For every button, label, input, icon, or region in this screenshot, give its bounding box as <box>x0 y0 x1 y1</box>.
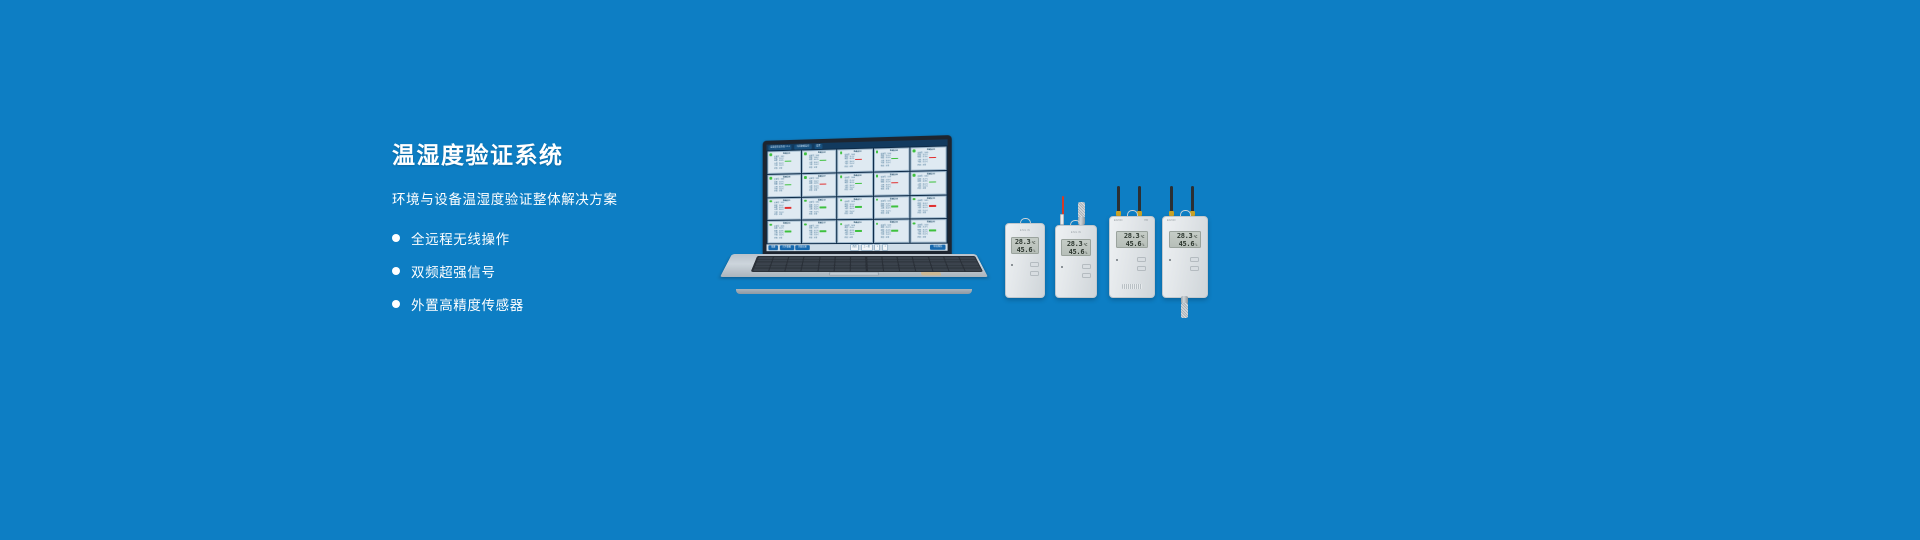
card-alarm-pill <box>820 207 827 209</box>
keyboard-key[interactable] <box>961 260 977 262</box>
card-state: 状态：正常 <box>774 190 799 193</box>
keyboard-key[interactable] <box>960 257 975 259</box>
port-label-left: EN/ON <box>1167 219 1176 222</box>
card-state: 状态：正常 <box>881 213 908 216</box>
humidity-probe-mesh <box>1181 303 1188 318</box>
sensor-antenna-probe: EN/ON 28.3 ℃ 45.6 % <box>1160 186 1210 318</box>
export-report-button[interactable]: 导出报告 <box>930 245 945 250</box>
status-led-icon <box>1061 266 1063 268</box>
keyboard-key[interactable] <box>772 260 787 262</box>
pager-page-1[interactable]: 1 <box>874 244 880 251</box>
antenna-right-icon <box>1191 186 1194 214</box>
card-alarm-pill <box>929 205 936 207</box>
card-status-led-icon <box>912 174 915 177</box>
keyboard-key[interactable] <box>867 266 882 268</box>
temperature-unit: ℃ <box>1083 243 1087 247</box>
card-status-led-icon <box>876 199 879 202</box>
keyboard-key[interactable] <box>819 266 834 268</box>
monitor-card[interactable]: 监测点09设备号：1009温度：24.6℃湿度：45.2%上限：30.0℃下限：… <box>874 172 910 196</box>
button-up[interactable] <box>1190 257 1199 262</box>
card-status-led-icon <box>840 223 843 226</box>
humidity-reading: 45.6 % <box>1173 240 1197 248</box>
card-alarm-pill <box>820 230 827 232</box>
pager-first[interactable]: 首页 <box>850 244 860 251</box>
keyboard-key[interactable] <box>851 260 866 262</box>
monitor-card[interactable]: 监测点11设备号：1011温度：26.0℃湿度：45.4%上限：30.0℃下限：… <box>767 197 801 220</box>
sensor-cable <box>1062 196 1064 216</box>
card-state: 状态：正常 <box>844 213 870 216</box>
temperature-reading: 28.3 ℃ <box>1120 232 1144 240</box>
card-state: 状态：正常 <box>917 236 944 239</box>
card-status-led-icon <box>912 222 915 225</box>
card-status-led-icon <box>770 154 772 157</box>
monitor-card[interactable]: 监测点03设备号：1003温度：26.1℃湿度：44.2%上限：30.0℃下限：… <box>838 149 873 173</box>
lcd-display: 28.3 ℃ 45.6 % <box>1169 231 1201 248</box>
keyboard-key[interactable] <box>883 266 898 268</box>
card-alarm-pill <box>855 230 862 232</box>
humidity-reading: 45.6 % <box>1015 246 1035 254</box>
card-state: 状态：正常 <box>917 212 944 215</box>
bullet-dot-icon <box>392 234 400 242</box>
keyboard-key[interactable] <box>835 260 850 262</box>
keyboard-key[interactable] <box>930 260 945 262</box>
monitor-card[interactable]: 监测点04设备号：1004温度：25.5℃湿度：45.0%上限：30.0℃下限：… <box>874 147 910 171</box>
keyboard-key[interactable] <box>820 257 835 259</box>
card-state: 状态：正常 <box>844 189 870 192</box>
sensor-compact: ENGIN 28.3 ℃ 45.6 % <box>1005 218 1045 298</box>
keyboard[interactable] <box>751 256 983 272</box>
card-state: 状态：正常 <box>774 167 799 170</box>
button-down[interactable] <box>1082 273 1091 278</box>
button-up[interactable] <box>1082 264 1091 269</box>
laptop-screen: 温湿度验证系统 V2.0 当前数据监控 设置 监测点01设备号：1001温度：2… <box>767 139 948 251</box>
button-down[interactable] <box>1137 266 1146 271</box>
card-status-led-icon <box>912 198 915 201</box>
feature-list: 全远程无线操作 双频超强信号 外置高精度传感器 <box>392 228 722 314</box>
monitor-card[interactable]: 监测点08设备号：1008温度：25.1℃湿度：46.5%上限：30.0℃下限：… <box>838 172 873 195</box>
keyboard-key[interactable] <box>851 263 866 265</box>
keyboard-key[interactable] <box>756 260 771 262</box>
keyboard-key[interactable] <box>818 269 833 271</box>
card-state: 状态：正常 <box>881 237 908 240</box>
keyboard-key[interactable] <box>867 257 882 259</box>
keyboard-key[interactable] <box>884 269 899 271</box>
humidity-unit: % <box>1142 243 1144 247</box>
keyboard-key[interactable] <box>867 260 882 262</box>
keyboard-key[interactable] <box>883 260 898 262</box>
temperature-reading: 28.3 ℃ <box>1015 238 1035 246</box>
monitor-card[interactable]: 监测点16设备号：1016温度：25.0℃湿度：46.8%上限：30.0℃下限：… <box>767 221 801 244</box>
device-body: ENGIN 28.3 ℃ 45.6 % <box>1005 223 1045 298</box>
status-led-icon <box>1169 259 1171 261</box>
card-status-led-icon <box>876 222 879 225</box>
temperature-reading: 28.3 ℃ <box>1065 240 1087 248</box>
keyboard-key[interactable] <box>944 257 959 259</box>
keyboard-key[interactable] <box>771 263 786 265</box>
humidity-unit: % <box>1085 251 1087 255</box>
keyboard-key[interactable] <box>867 269 882 271</box>
temperature-unit: ℃ <box>1193 235 1197 239</box>
card-status-led-icon <box>770 200 772 203</box>
card-alarm-pill <box>785 207 792 209</box>
page-title: 温湿度验证系统 <box>392 142 722 170</box>
monitor-card[interactable]: 监测点20设备号：1020温度：25.4℃湿度：46.2%上限：30.0℃下限：… <box>910 219 946 242</box>
keyboard-key[interactable] <box>851 269 866 271</box>
humidity-reading: 45.6 % <box>1065 248 1087 256</box>
sensor-dual-antenna: EN/ON HB 28.3 ℃ 45.6 % <box>1107 186 1157 298</box>
cable-connector <box>1060 214 1064 225</box>
card-alarm-pill <box>892 206 899 208</box>
monitor-card[interactable]: 监测点02设备号：1002温度：24.8℃湿度：46.1%上限：30.0℃下限：… <box>802 150 836 173</box>
laptop-illustration: 温湿度验证系统 V2.0 当前数据监控 设置 监测点01设备号：1001温度：2… <box>720 138 988 300</box>
keyboard-key[interactable] <box>898 257 913 259</box>
keyboard-key[interactable] <box>770 266 786 268</box>
card-status-led-icon <box>804 176 807 179</box>
device-brand: ENGIN <box>1056 231 1096 234</box>
monitor-card[interactable]: 监测点07设备号：1007温度：26.4℃湿度：43.9%上限：30.0℃下限：… <box>802 173 836 196</box>
keyboard-key[interactable] <box>773 257 788 259</box>
card-state: 状态：正常 <box>917 188 944 191</box>
new-button[interactable]: 新建 <box>768 245 778 250</box>
card-status-led-icon <box>804 223 807 226</box>
feature-label: 双频超强信号 <box>411 261 496 281</box>
card-alarm-pill <box>855 206 862 208</box>
status-led-icon <box>1116 259 1118 261</box>
card-alarm-pill <box>785 230 792 232</box>
keyboard-key[interactable] <box>758 257 773 259</box>
keyboard-key[interactable] <box>867 263 882 265</box>
monitor-card[interactable]: 监测点13设备号：1013温度：24.9℃湿度：45.9%上限：30.0℃下限：… <box>838 196 873 219</box>
temperature-reading: 28.3 ℃ <box>1173 232 1197 240</box>
keyboard-key[interactable] <box>755 263 770 265</box>
monitor-card[interactable]: 监测点18设备号：1018温度：25.8℃湿度：44.9%上限：30.0℃下限：… <box>838 220 873 243</box>
antenna-left-icon <box>1170 186 1173 214</box>
keyboard-key[interactable] <box>769 269 785 271</box>
keyboard-key[interactable] <box>788 260 803 262</box>
keyboard-row <box>756 260 976 262</box>
app-toolbar: 新建 打开数据 开始记录 首页 上一页 1 2 导出报告 <box>767 244 948 252</box>
keyboard-key[interactable] <box>914 260 929 262</box>
hero-subtitle: 环境与设备温湿度验证整体解决方案 <box>392 188 722 208</box>
card-state: 状态：正常 <box>881 188 908 191</box>
product-banner: 温湿度验证系统 环境与设备温湿度验证整体解决方案 全远程无线操作 双频超强信号 … <box>0 0 1920 540</box>
keyboard-key[interactable] <box>949 269 965 271</box>
monitor-card-grid: 监测点01设备号：1001温度：25.3℃湿度：45.6%上限：30.0℃下限：… <box>767 145 948 244</box>
keyboard-key[interactable] <box>753 269 769 271</box>
lcd-display: 28.3 ℃ 45.6 % <box>1011 237 1039 254</box>
humidity-reading: 45.6 % <box>1120 240 1144 248</box>
monitor-card[interactable]: 监测点12设备号：1012温度：25.2℃湿度：46.0%上限：30.0℃下限：… <box>802 197 836 220</box>
keyboard-key[interactable] <box>946 263 962 265</box>
keyboard-key[interactable] <box>754 266 770 268</box>
card-status-led-icon <box>912 150 915 153</box>
lcd-display: 28.3 ℃ 45.6 % <box>1061 239 1091 256</box>
laptop-base <box>720 254 988 300</box>
keyboard-key[interactable] <box>803 263 818 265</box>
laptop-deck <box>720 254 988 277</box>
bullet-dot-icon <box>392 267 400 275</box>
button-up[interactable] <box>1030 262 1039 267</box>
speaker-grille <box>1122 284 1142 289</box>
humidity-probe-mesh <box>1078 202 1085 218</box>
keyboard-key[interactable] <box>802 269 817 271</box>
temperature-value: 28.3 <box>1124 232 1140 240</box>
card-state: 状态：正常 <box>774 214 799 217</box>
card-state: 状态：正常 <box>774 237 799 240</box>
keyboard-key[interactable] <box>899 263 914 265</box>
keyboard-key[interactable] <box>899 266 914 268</box>
pager-page-2[interactable]: 2 <box>882 244 888 251</box>
monitor-card[interactable]: 监测点17设备号：1017温度：24.4℃湿度：45.1%上限：30.0℃下限：… <box>802 220 836 243</box>
monitor-card[interactable]: 监测点10设备号：1010温度：25.7℃湿度：44.8%上限：30.0℃下限：… <box>910 171 946 195</box>
keyboard-key[interactable] <box>835 266 850 268</box>
device-brand: ENGIN <box>1006 229 1044 232</box>
keyboard-key[interactable] <box>789 257 804 259</box>
temperature-unit: ℃ <box>1031 241 1035 245</box>
port-label-right: HB <box>1144 219 1148 222</box>
tab-settings[interactable]: 设置 <box>814 143 822 148</box>
status-led-icon <box>1011 264 1013 266</box>
keyboard-key[interactable] <box>931 266 947 268</box>
keyboard-key[interactable] <box>962 263 978 265</box>
keyboard-key[interactable] <box>945 260 960 262</box>
card-status-led-icon <box>770 177 772 180</box>
temperature-value: 28.3 <box>1015 238 1031 246</box>
card-alarm-pill <box>929 229 936 231</box>
button-down[interactable] <box>1030 271 1039 276</box>
keyboard-key[interactable] <box>883 263 898 265</box>
monitor-card[interactable]: 监测点14设备号：1014温度：25.6℃湿度：44.5%上限：30.0℃下限：… <box>874 196 910 219</box>
device-body: EN/ON 28.3 ℃ 45.6 % <box>1162 216 1208 298</box>
sensor-probe-cable: ENGIN 28.3 ℃ 45.6 % <box>1053 196 1097 298</box>
keyboard-key[interactable] <box>804 257 819 259</box>
keyboard-key[interactable] <box>900 269 916 271</box>
keyboard-key[interactable] <box>916 269 932 271</box>
feature-label: 全远程无线操作 <box>411 228 510 248</box>
temperature-value: 28.3 <box>1177 232 1193 240</box>
list-item: 双频超强信号 <box>392 261 722 281</box>
keyboard-key[interactable] <box>851 266 866 268</box>
monitor-card[interactable]: 监测点01设备号：1001温度：25.3℃湿度：45.6%上限：30.0℃下限：… <box>767 150 801 173</box>
card-status-led-icon <box>840 152 843 155</box>
lcd-display: 28.3 ℃ 45.6 % <box>1116 231 1148 248</box>
card-status-led-icon <box>876 175 879 178</box>
bullet-dot-icon <box>392 300 400 308</box>
card-state: 状态：正常 <box>809 213 835 216</box>
keyboard-key[interactable] <box>819 263 834 265</box>
keyboard-key[interactable] <box>786 269 802 271</box>
keyboard-key[interactable] <box>965 269 981 271</box>
laptop-lid: 温湿度验证系统 V2.0 当前数据监控 设置 监测点01设备号：1001温度：2… <box>763 135 952 260</box>
card-status-led-icon <box>840 199 843 202</box>
hero-copy: 温湿度验证系统 环境与设备温湿度验证整体解决方案 全远程无线操作 双频超强信号 … <box>392 142 722 327</box>
monitor-card[interactable]: 监测点19设备号：1019温度：26.2℃湿度：45.3%上限：30.0℃下限：… <box>874 220 910 243</box>
keyboard-key[interactable] <box>930 263 945 265</box>
list-item: 外置高精度传感器 <box>392 294 722 314</box>
keyboard-key[interactable] <box>836 257 850 259</box>
keyboard-key[interactable] <box>786 266 801 268</box>
list-item: 全远程无线操作 <box>392 228 722 248</box>
device-body: ENGIN 28.3 ℃ 45.6 % <box>1055 225 1097 298</box>
keyboard-key[interactable] <box>932 269 948 271</box>
humidity-unit: % <box>1195 243 1197 247</box>
humidity-value: 45.6 <box>1017 246 1033 254</box>
keyboard-key[interactable] <box>804 260 819 262</box>
card-state: 状态：正常 <box>844 165 870 168</box>
antenna-left-icon <box>1117 186 1120 214</box>
card-state: 状态：正常 <box>844 237 870 240</box>
keyboard-key[interactable] <box>915 266 930 268</box>
card-state: 状态：正常 <box>881 164 908 167</box>
card-status-led-icon <box>770 223 772 226</box>
keyboard-key[interactable] <box>882 257 897 259</box>
keyboard-key[interactable] <box>898 260 913 262</box>
keyboard-row <box>753 269 981 271</box>
feature-label: 外置高精度传感器 <box>411 294 524 314</box>
card-state: 状态：正常 <box>917 164 944 167</box>
humidity-value: 45.6 <box>1069 248 1085 256</box>
keyboard-key[interactable] <box>929 257 944 259</box>
card-state: 状态：正常 <box>809 237 835 240</box>
antenna-right-icon <box>1138 186 1141 214</box>
humidity-value: 45.6 <box>1179 240 1195 248</box>
monitor-card[interactable]: 监测点15设备号：1015温度：26.3℃湿度：43.7%上限：30.0℃下限：… <box>910 195 946 219</box>
keyboard-key[interactable] <box>803 266 818 268</box>
button-down[interactable] <box>1190 266 1199 271</box>
card-state: 状态：正常 <box>809 190 835 193</box>
monitor-card[interactable]: 监测点06设备号：1006温度：25.9℃湿度：45.8%上限：30.0℃下限：… <box>767 174 801 197</box>
monitor-card[interactable]: 监测点05设备号：1005温度：24.2℃湿度：47.3%上限：30.0℃下限：… <box>910 146 946 170</box>
pager-prev[interactable]: 上一页 <box>861 244 873 251</box>
start-record-button[interactable]: 开始记录 <box>795 245 809 250</box>
keyboard-key[interactable] <box>835 269 850 271</box>
keyboard-key[interactable] <box>947 266 963 268</box>
card-status-led-icon <box>840 175 843 178</box>
port-label-left: EN/ON <box>1114 219 1123 222</box>
keyboard-key[interactable] <box>851 257 865 259</box>
card-status-led-icon <box>876 151 879 154</box>
laptop-base-front <box>736 289 972 294</box>
keyboard-key[interactable] <box>913 257 928 259</box>
keyboard-row <box>754 266 979 268</box>
keyboard-row <box>758 257 975 259</box>
trackpad[interactable] <box>829 272 879 276</box>
humidity-unit: % <box>1033 249 1035 253</box>
keyboard-row <box>755 263 978 265</box>
keyboard-key[interactable] <box>835 263 850 265</box>
keyboard-key[interactable] <box>963 266 979 268</box>
humidity-value: 45.6 <box>1126 240 1142 248</box>
keyboard-key[interactable] <box>787 263 802 265</box>
card-alarm-pill <box>892 230 899 232</box>
keyboard-key[interactable] <box>820 260 835 262</box>
deck-sticker <box>921 272 942 276</box>
keyboard-key[interactable] <box>915 263 930 265</box>
open-data-button[interactable]: 打开数据 <box>780 245 794 250</box>
device-body: EN/ON HB 28.3 ℃ 45.6 % <box>1109 216 1155 298</box>
card-status-led-icon <box>804 153 807 156</box>
temperature-unit: ℃ <box>1140 235 1144 239</box>
temperature-value: 28.3 <box>1067 240 1083 248</box>
button-up[interactable] <box>1137 257 1146 262</box>
card-status-led-icon <box>804 200 807 203</box>
card-state: 状态：正常 <box>809 166 835 169</box>
